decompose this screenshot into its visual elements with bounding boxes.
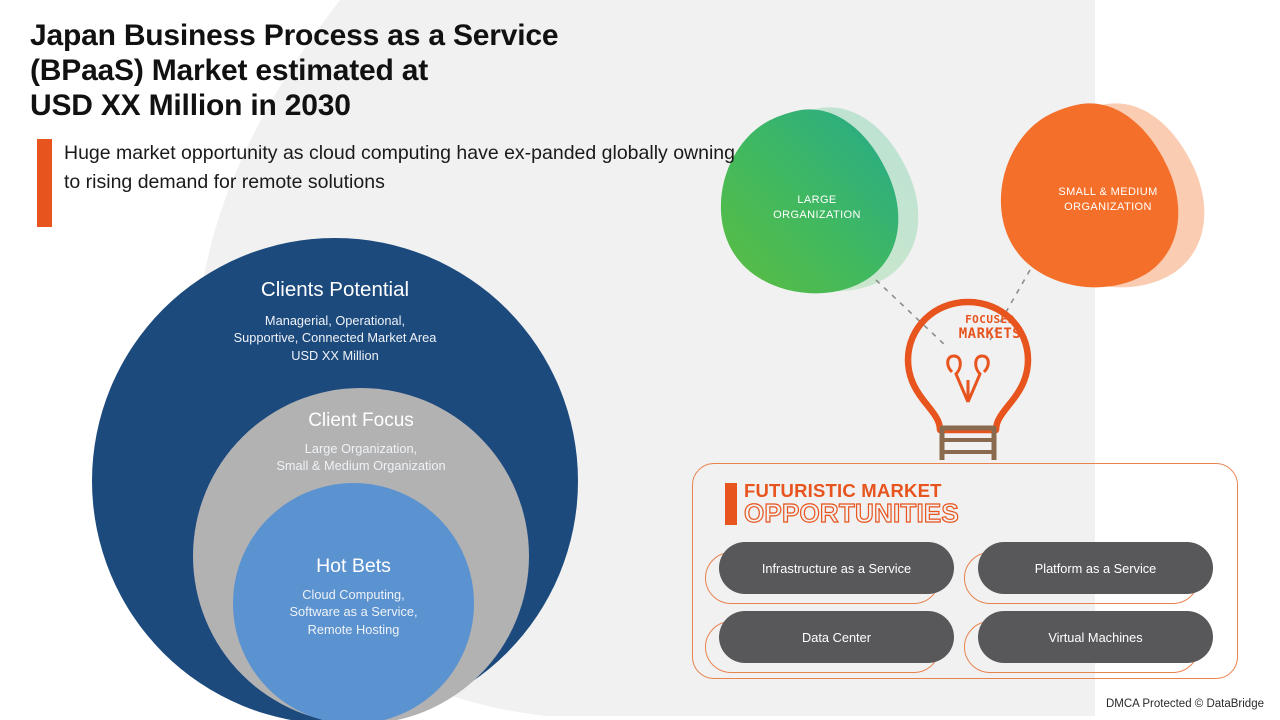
focused-markets-graphic: LARGE ORGANIZATION SMALL & MEDIUM ORGANI… [700,80,1260,460]
infographic-canvas: Japan Business Process as a Service (BPa… [0,0,1280,720]
circle-inner-body-line-3: Remote Hosting [308,622,400,637]
circle-middle-body-line-2: Small & Medium Organization [276,458,445,473]
opportunity-pill-virtual-machines[interactable]: Virtual Machines [978,611,1213,663]
headline-line-2: (BPaaS) Market estimated at [30,54,428,87]
circle-middle-body: Large Organization, Small & Medium Organ… [193,440,529,475]
opportunity-slot: Data Center [719,611,954,663]
opportunity-pill-paas[interactable]: Platform as a Service [978,542,1213,594]
circle-outer-body-line-2: Supportive, Connected Market Area [234,330,437,345]
circle-middle-title: Client Focus [193,410,529,432]
opportunity-pill-iaas[interactable]: Infrastructure as a Service [719,542,954,594]
circle-hot-bets: Hot Bets Cloud Computing, Software as a … [233,483,474,720]
opportunity-slot: Virtual Machines [978,611,1213,663]
circle-outer-body-line-1: Managerial, Operational, [265,313,405,328]
page-title: Japan Business Process as a Service (BPa… [30,18,770,123]
circle-outer-body: Managerial, Operational, Supportive, Con… [92,312,578,364]
lightbulb-icon [908,302,1028,460]
opportunity-slot: Platform as a Service [978,542,1213,594]
fmo-accent-bar [725,483,737,525]
subtitle-accent-bar [37,139,52,227]
concentric-circles-diagram: Clients Potential Managerial, Operationa… [92,238,578,720]
headline-line-1: Japan Business Process as a Service [30,19,558,52]
futuristic-market-opportunities-panel: FUTURISTIC MARKET OPPORTUNITIES Infrastr… [692,463,1238,679]
circle-middle-body-line-1: Large Organization, [305,441,417,456]
circle-outer-body-line-3: USD XX Million [291,348,378,363]
subtitle-block: Huge market opportunity as cloud computi… [37,139,757,227]
opportunity-pill-data-center[interactable]: Data Center [719,611,954,663]
headline-line-3: USD XX Million in 2030 [30,89,351,122]
subtitle-text: Huge market opportunity as cloud computi… [64,139,754,227]
copyright-footer: DMCA Protected © DataBridge [1106,698,1264,710]
circle-inner-body-line-2: Software as a Service, [289,604,417,619]
circle-inner-body-line-1: Cloud Computing, [302,587,404,602]
fmo-header: FUTURISTIC MARKET OPPORTUNITIES [725,481,959,527]
circle-inner-title: Hot Bets [233,555,474,577]
fmo-title-line-2: OPPORTUNITIES [744,500,959,527]
circle-outer-title: Clients Potential [92,278,578,302]
circle-inner-body: Cloud Computing, Software as a Service, … [233,586,474,638]
opportunity-slot: Infrastructure as a Service [719,542,954,594]
opportunity-pill-grid: Infrastructure as a Service Platform as … [719,542,1213,663]
